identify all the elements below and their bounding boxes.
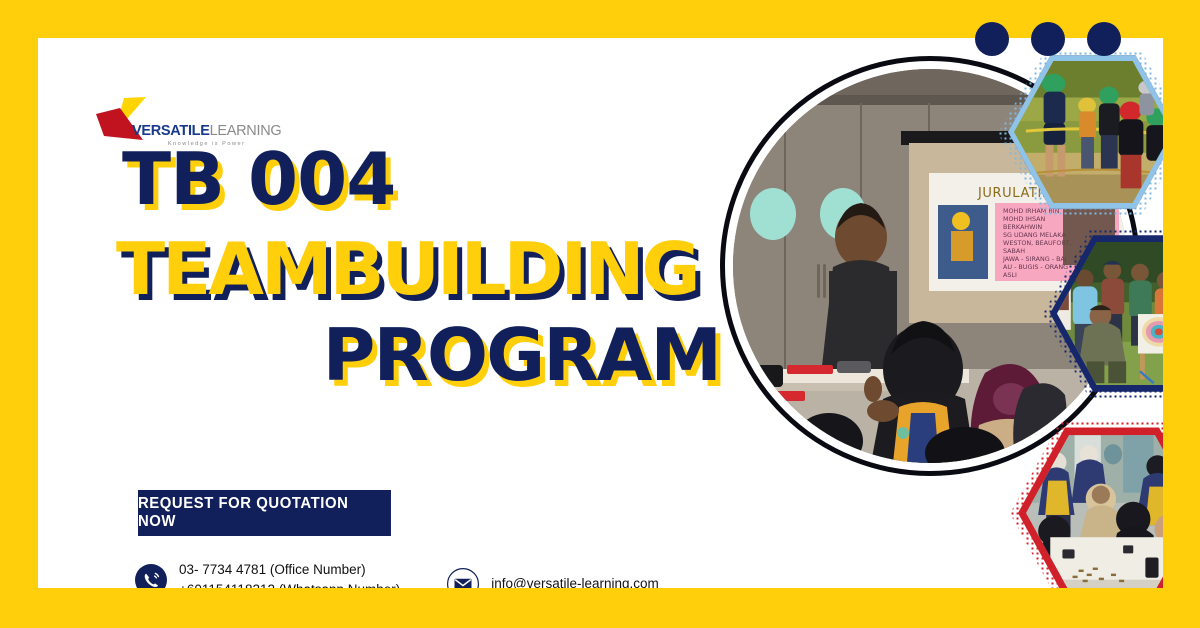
request-quotation-label: REQUEST FOR QUOTATION NOW [138, 495, 391, 531]
headline-program: PROGRAM [108, 322, 728, 388]
svg-text:BERKAHWIN: BERKAHWIN [1003, 223, 1042, 231]
phone-numbers: 03- 7734 4781 (Office Number) +601154118… [179, 560, 400, 588]
poster-root: VERSATILELEARNING Knowledge is Power TB … [0, 0, 1200, 628]
svg-text:SG UDANG MELAKA: SG UDANG MELAKA [1003, 231, 1066, 239]
svg-text:JAWA - SIRANG - BAJ: JAWA - SIRANG - BAJ [1002, 255, 1067, 263]
email-address: info@versatile-learning.com [491, 574, 659, 588]
headline-block: TB 004 TEAMBUILDING PROGRAM [108, 146, 728, 389]
decorative-dots-row [975, 22, 1121, 56]
decorative-dot-3 [1087, 22, 1121, 56]
phone-icon [134, 563, 168, 588]
decorative-dot-1 [975, 22, 1009, 56]
phone-contact[interactable]: 03- 7734 4781 (Office Number) +601154118… [134, 560, 400, 588]
email-contact[interactable]: info@versatile-learning.com [446, 567, 659, 588]
headline-teambuilding: TEAMBUILDING [116, 236, 728, 302]
decorative-dot-2 [1031, 22, 1065, 56]
svg-text:AU - BUGIS - ORANG: AU - BUGIS - ORANG [1003, 263, 1068, 271]
request-quotation-button[interactable]: REQUEST FOR QUOTATION NOW [138, 490, 391, 536]
phone-whatsapp: +601154118212 (Whatsapp Number) [179, 580, 400, 588]
svg-text:WESTON, BEAUFORT,: WESTON, BEAUFORT, [1003, 239, 1071, 247]
contact-row: 03- 7734 4781 (Office Number) +601154118… [134, 560, 659, 588]
svg-text:ASLI: ASLI [1003, 271, 1017, 279]
headline-course-code: TB 004 [122, 146, 728, 212]
svg-text:MOHD IHSAN: MOHD IHSAN [1003, 215, 1046, 223]
envelope-icon [446, 567, 480, 588]
white-panel: VERSATILELEARNING Knowledge is Power TB … [38, 38, 1163, 588]
photo-collage: JURULATIH ANDA MOHD IRHAM BIN MOHD IHSAN… [698, 38, 1163, 588]
svg-text:SABAH: SABAH [1003, 247, 1025, 255]
phone-office: 03- 7734 4781 (Office Number) [179, 560, 400, 580]
